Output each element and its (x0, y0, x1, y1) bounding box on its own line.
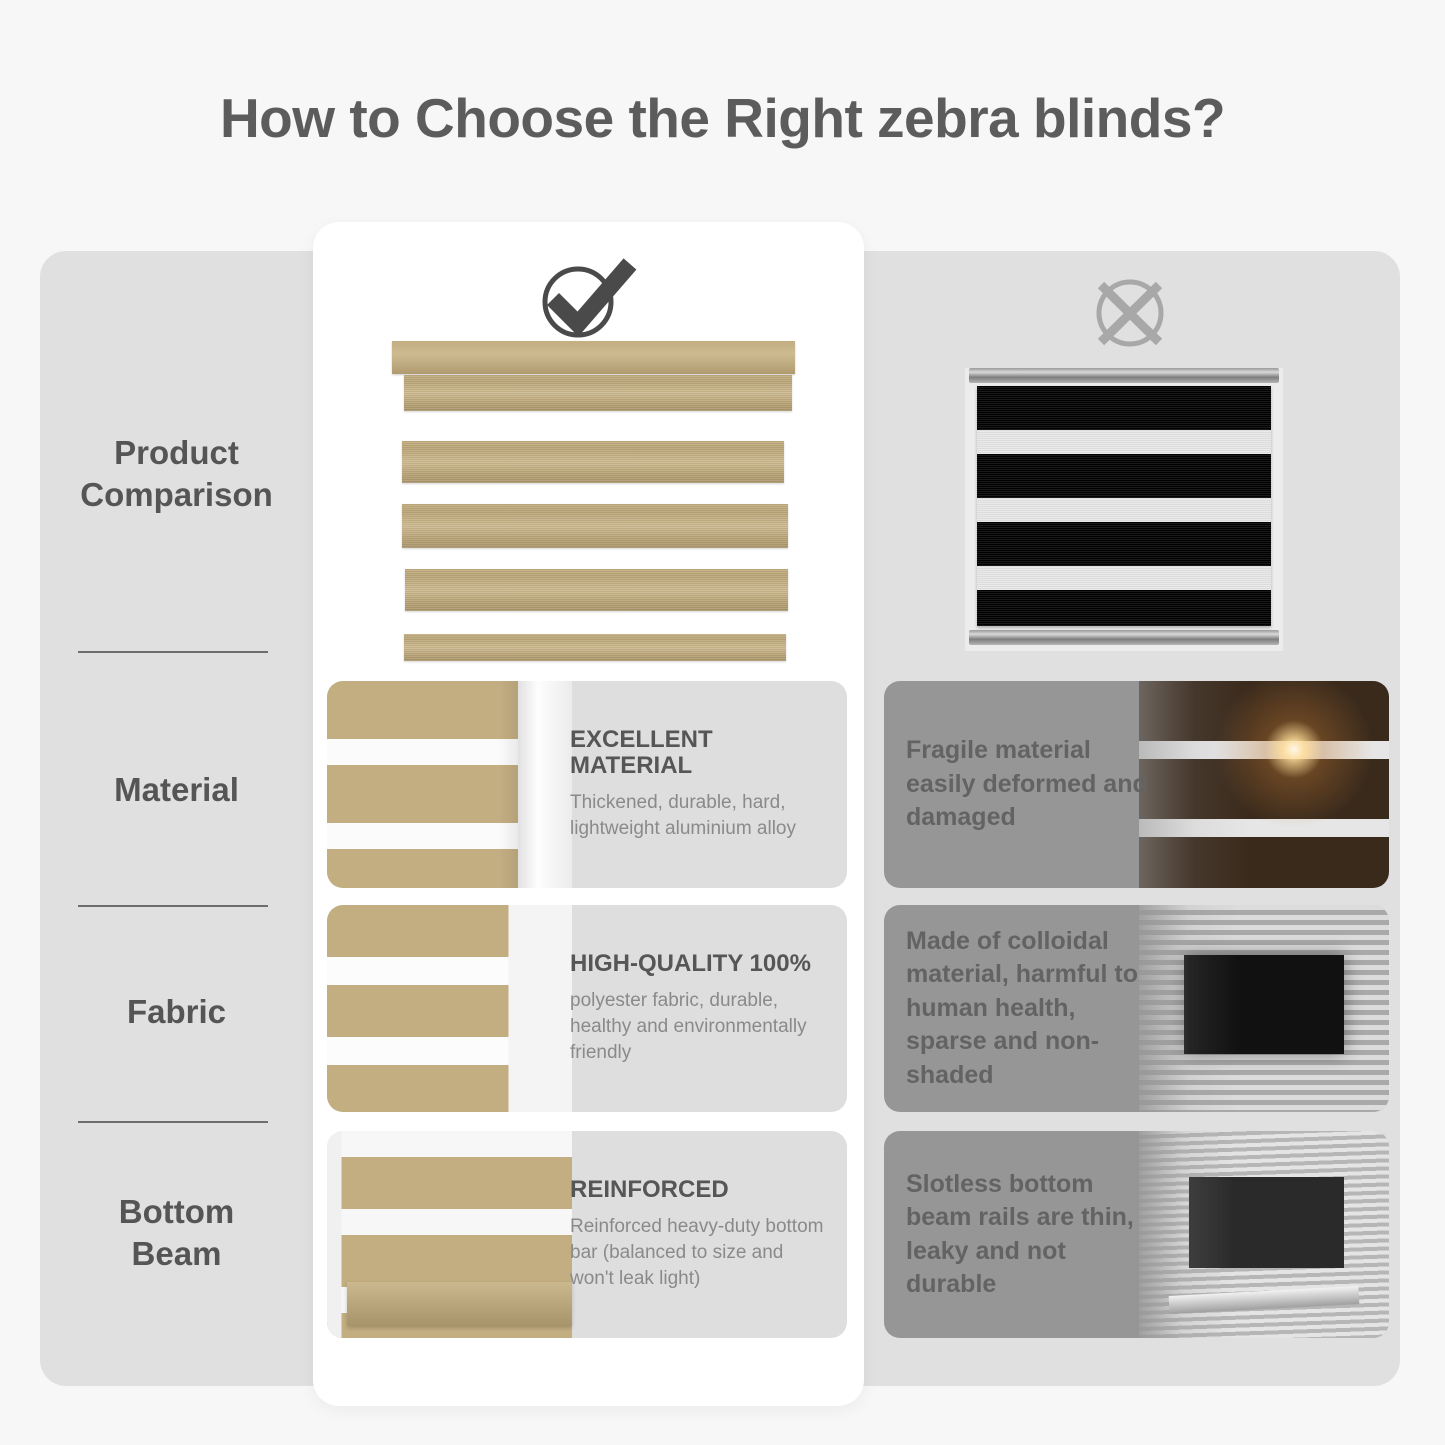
row-label-column: Product Comparison Material Fabric Botto… (40, 251, 313, 1386)
row-divider (78, 651, 268, 653)
row-label-line1: Bottom (40, 1191, 313, 1233)
tan-blind-fabric-photo (327, 905, 572, 1112)
blind-slat (404, 375, 792, 411)
row-label-line1: Fabric (40, 991, 313, 1033)
tan-zebra-blind-image (392, 341, 795, 668)
blind-slat (405, 569, 788, 611)
page-title: How to Choose the Right zebra blinds? (0, 86, 1445, 150)
blind-top-rail (969, 368, 1279, 383)
feature-heading: Slotless bottom beam rails are thin, lea… (906, 1168, 1156, 1302)
row-label-fabric: Fabric (40, 991, 313, 1033)
blind-fabric-body (977, 386, 1271, 626)
feature-heading: Made of colloidal material, harmful to h… (906, 925, 1156, 1093)
black-zebra-blind-image (965, 368, 1283, 651)
slotless-bottom-rail-photo (1139, 1131, 1389, 1338)
feature-card-good-fabric: HIGH-QUALITY 100% polyester fabric, dura… (327, 905, 847, 1112)
feature-card-bad-bottom-beam: Slotless bottom beam rails are thin, lea… (884, 1131, 1389, 1338)
cross-circle-icon (1084, 272, 1176, 354)
blind-bottom-rail (969, 630, 1279, 645)
row-label-line2: Comparison (40, 474, 313, 516)
feature-heading: Fragile material easily deformed and dam… (906, 734, 1156, 835)
row-label-bottom-beam: Bottom Beam (40, 1191, 313, 1275)
blind-slat (402, 441, 784, 483)
row-label-line1: Product (40, 432, 313, 474)
reinforced-bottom-bar-photo (327, 1131, 572, 1338)
blind-valance (392, 341, 795, 374)
feature-heading: REINFORCED (570, 1177, 830, 1203)
row-divider (78, 1121, 268, 1123)
feature-heading: HIGH-QUALITY 100% (570, 951, 830, 977)
feature-body: polyester fabric, durable, healthy and e… (570, 988, 830, 1066)
colloidal-fabric-photo (1139, 905, 1389, 1112)
feature-card-bad-fabric: Made of colloidal material, harmful to h… (884, 905, 1389, 1112)
feature-body: Reinforced heavy-duty bottom bar (balanc… (570, 1214, 830, 1292)
check-circle-icon (533, 255, 638, 345)
feature-heading: EXCELLENT MATERIAL (570, 727, 830, 780)
feature-body: Thickened, durable, hard, lightweight al… (570, 790, 830, 842)
blind-bottom-bar (404, 634, 786, 661)
feature-card-good-material: EXCELLENT MATERIAL Thickened, durable, h… (327, 681, 847, 888)
feature-card-bad-material: Fragile material easily deformed and dam… (884, 681, 1389, 888)
sun-leak-window-photo (1139, 681, 1389, 888)
tan-blind-window-frame-photo (327, 681, 572, 888)
row-label-material: Material (40, 769, 313, 811)
row-label-line2: Beam (40, 1233, 313, 1275)
feature-card-good-bottom-beam: REINFORCED Reinforced heavy-duty bottom … (327, 1131, 847, 1338)
row-label-product-comparison: Product Comparison (40, 432, 313, 516)
blind-slat (402, 504, 788, 548)
row-label-line1: Material (40, 769, 313, 811)
row-divider (78, 905, 268, 907)
